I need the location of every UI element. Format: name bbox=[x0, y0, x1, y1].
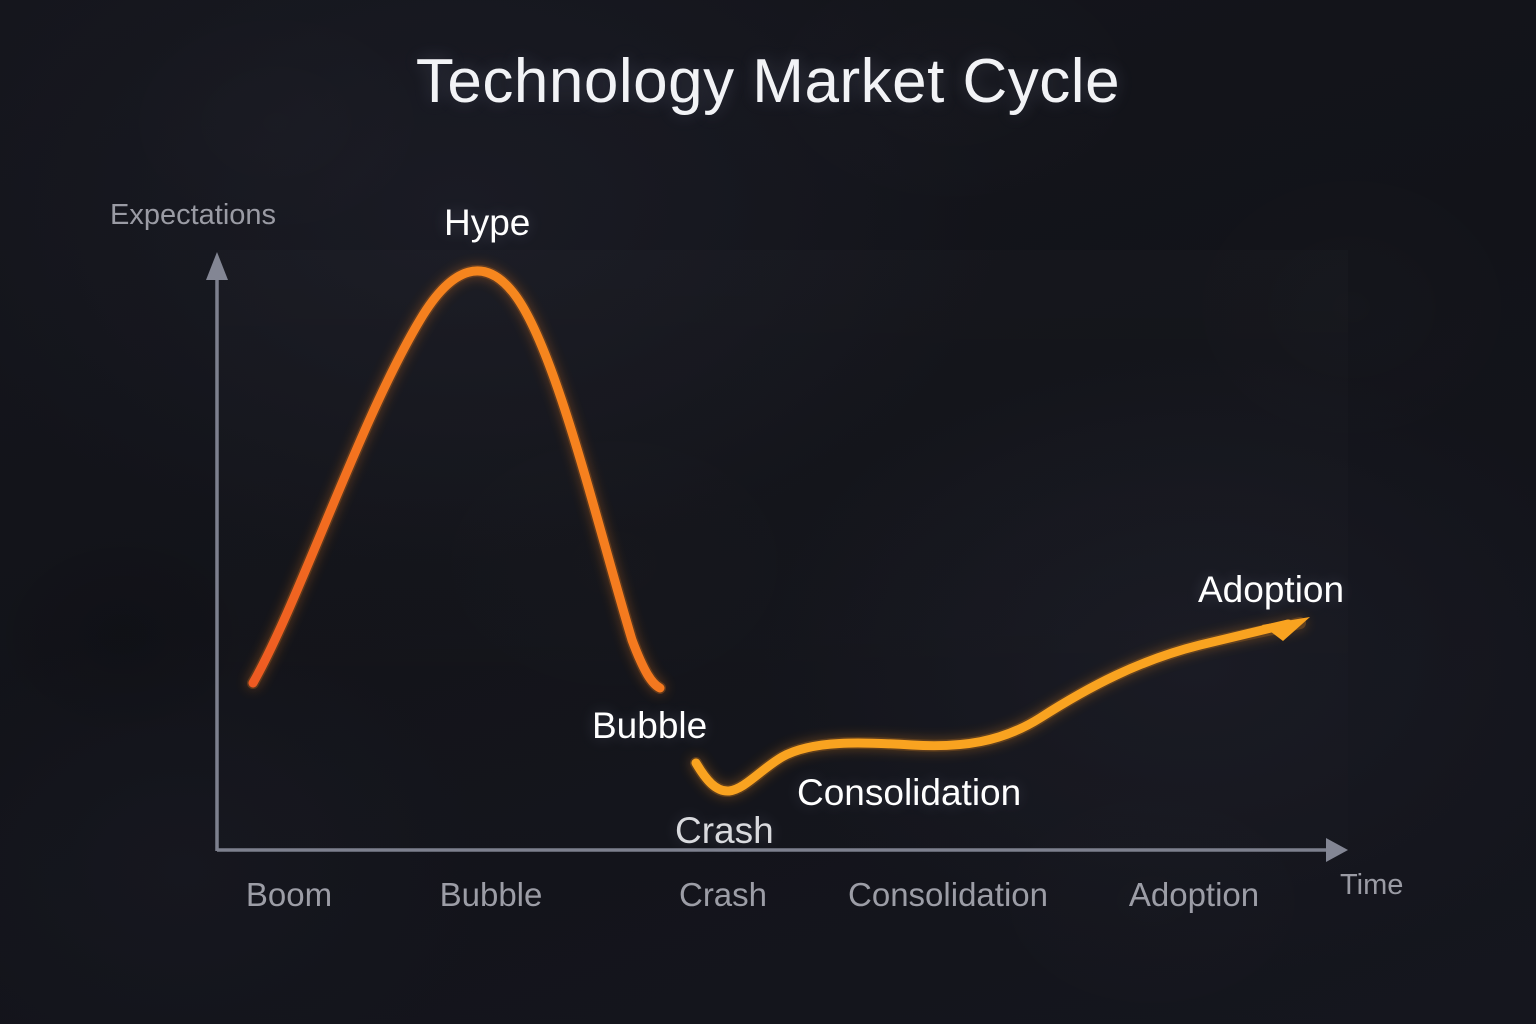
annotation-bubble: Bubble bbox=[592, 705, 707, 747]
x-tick-boom: Boom bbox=[246, 876, 332, 914]
curve-glow bbox=[253, 271, 1300, 791]
expectations-curve-rise-fall bbox=[253, 271, 660, 688]
chart-graphics bbox=[0, 0, 1536, 1024]
chart-canvas: Technology Market Cycle Expectations Tim… bbox=[0, 0, 1536, 1024]
annotation-consolidation: Consolidation bbox=[797, 772, 1021, 814]
x-axis bbox=[217, 838, 1348, 862]
annotation-hype: Hype bbox=[444, 202, 530, 244]
x-tick-adoption: Adoption bbox=[1129, 876, 1259, 914]
y-axis bbox=[206, 252, 228, 851]
annotation-adoption: Adoption bbox=[1198, 569, 1344, 611]
annotation-crash: Crash bbox=[675, 810, 774, 852]
x-tick-bubble: Bubble bbox=[440, 876, 543, 914]
x-tick-consolidation: Consolidation bbox=[848, 876, 1048, 914]
x-tick-crash: Crash bbox=[679, 876, 767, 914]
expectations-curve-recovery bbox=[696, 617, 1310, 791]
